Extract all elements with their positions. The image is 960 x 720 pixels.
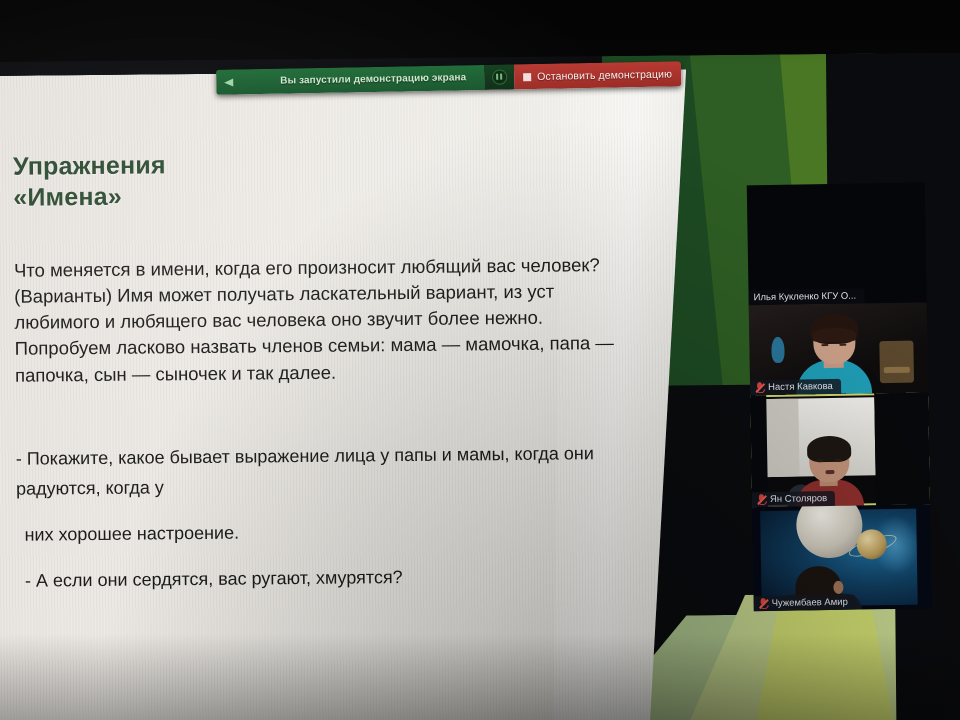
video-letterbox-left: [750, 395, 768, 507]
presentation-slide: Упражнения «Имена» Что меняется в имени,…: [0, 69, 693, 720]
participant-video-strip[interactable]: Илья Кукленко КГУ О...: [747, 182, 932, 611]
slide-content: Упражнения «Имена» Что меняется в имени,…: [13, 146, 637, 598]
mic-muted-icon: [759, 598, 767, 609]
mic-muted-icon: [757, 494, 765, 505]
question-line-3: них хорошее настроение.: [16, 516, 636, 548]
stop-share-label: Остановить демонстрацию: [537, 68, 672, 82]
participant-name-label: Ян Столяров: [752, 491, 835, 507]
slide-questions: - Покажите, какое бывает выражение лица …: [16, 441, 637, 595]
pause-icon: [492, 70, 507, 85]
participant-tile[interactable]: Настя Кавкова: [749, 302, 928, 395]
slide-title: Упражнения «Имена»: [13, 146, 634, 213]
video-chair: [879, 341, 914, 384]
participant-name: Илья Кукленко КГУ О...: [754, 291, 857, 304]
video-person-eye: [817, 459, 823, 462]
video-person-eye: [821, 344, 828, 346]
stop-square-icon: [523, 73, 531, 81]
sharing-status-text: Вы запустили демонстрацию экрана: [246, 72, 466, 87]
mic-muted-icon: [755, 382, 763, 393]
participant-name-label: Чужембаев Амир: [754, 595, 856, 612]
monitor-screen: Упражнения «Имена» Что меняется в имени,…: [0, 52, 960, 720]
sharing-status-bar: Вы запустили демонстрацию экрана: [216, 65, 484, 95]
slide-paragraph: Что меняется в имени, когда его произнос…: [14, 251, 635, 388]
participant-name-label: Настя Кавкова: [750, 379, 841, 396]
video-letterbox-right: [874, 392, 930, 505]
photographed-monitor: Упражнения «Имена» Что меняется в имени,…: [0, 0, 960, 720]
question-line-1: - Покажите, какое бывает выражение лица …: [16, 441, 636, 473]
pause-share-button[interactable]: [484, 64, 514, 90]
video-person-mouth: [825, 470, 834, 474]
question-line-2: радуются, когда у: [16, 471, 636, 503]
participant-tile[interactable]: Илья Кукленко КГУ О...: [747, 182, 927, 305]
video-person-hair: [807, 436, 851, 463]
participant-name: Настя Кавкова: [768, 381, 833, 393]
participant-tile[interactable]: Чужембаев Амир: [752, 504, 932, 611]
participant-tile-active-speaker[interactable]: Ян Столяров: [750, 392, 930, 507]
participant-name: Ян Столяров: [770, 493, 827, 505]
slide-title-line-2: «Имена»: [13, 177, 633, 214]
screen-share-icon: [224, 76, 237, 87]
paragraph-line-5: папочка, сын — сыночек и так далее.: [15, 356, 635, 388]
participant-name: Чужембаев Амир: [772, 597, 848, 609]
video-person-eye: [839, 344, 846, 346]
video-person-fringe: [812, 328, 856, 343]
video-chair-rail: [884, 367, 910, 373]
question-line-4: - А если они сердятся, вас ругают, хмуря…: [17, 562, 637, 594]
video-person-eye: [835, 459, 841, 462]
stop-share-button[interactable]: Остановить демонстрацию: [514, 61, 681, 89]
video-background-shadow: [764, 399, 799, 478]
video-object: [771, 337, 784, 363]
video-person-ear: [833, 581, 843, 594]
